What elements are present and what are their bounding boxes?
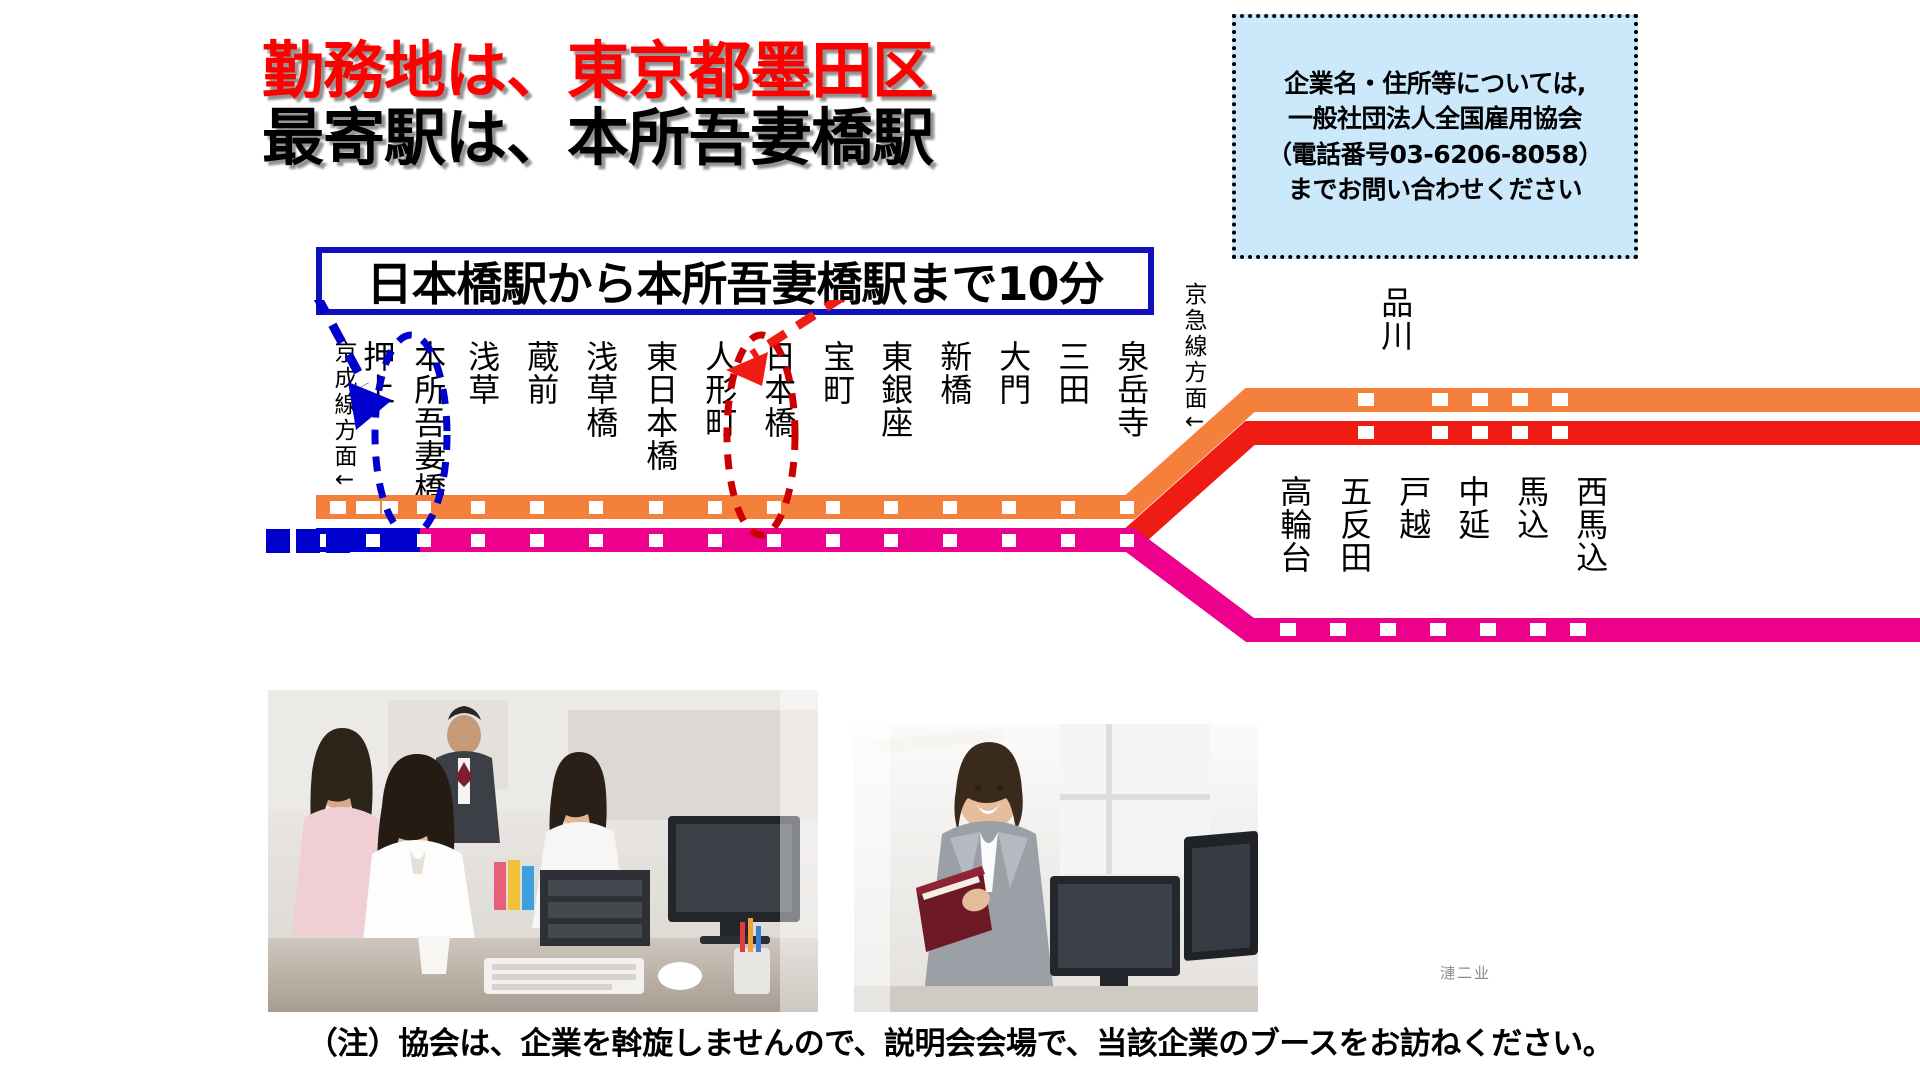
- station-tick: [417, 501, 431, 514]
- contact-info-line-3: （電話番号03-6206-8058）: [1267, 137, 1603, 173]
- station-tick: [1472, 426, 1488, 439]
- station-tick: [530, 534, 544, 547]
- station-tick: [943, 501, 957, 514]
- station-tick: [1430, 623, 1446, 636]
- station-tick: [1002, 501, 1016, 514]
- magenta-line: [316, 540, 1920, 630]
- station-tick: [330, 501, 346, 514]
- origin-pointer-arrow: [726, 300, 900, 386]
- office-woman-photo-graphic: [854, 724, 1258, 1012]
- station-tick: [1380, 623, 1396, 636]
- contact-info-line-4: までお問い合わせください: [1267, 172, 1603, 208]
- office-woman-photo: [854, 724, 1258, 1012]
- orange-line: [316, 400, 1920, 507]
- keisei-stub-block: [326, 529, 350, 553]
- station-tick: [530, 501, 544, 514]
- keisei-stub-block: [266, 529, 290, 553]
- station-tick: [471, 534, 485, 547]
- station-tick: [826, 534, 840, 547]
- watermark-text: 漣二业: [1440, 962, 1491, 983]
- keisei-stub-block: [296, 529, 320, 553]
- station-tick: [649, 501, 663, 514]
- station-tick: [356, 501, 372, 514]
- station-tick: [1512, 393, 1528, 406]
- contact-info-box: 企業名・住所等については, 一般社団法人全国雇用協会 （電話番号03-6206-…: [1232, 14, 1638, 259]
- station-tick: [1330, 623, 1346, 636]
- station-tick: [1552, 393, 1568, 406]
- station-tick: [884, 534, 898, 547]
- contact-info-line-1: 企業名・住所等については,: [1267, 66, 1603, 102]
- station-tick: [767, 534, 781, 547]
- contact-info-line-2: 一般社団法人全国雇用協会: [1267, 101, 1603, 137]
- page-title-line-1: 勤務地は、東京都墨田区: [262, 38, 1082, 105]
- station-tick: [943, 534, 957, 547]
- station-tick: [708, 534, 722, 547]
- page-title: 勤務地は、東京都墨田区 最寄駅は、本所吾妻橋駅: [262, 38, 1082, 172]
- rail-lines-svg: [0, 300, 1920, 720]
- page-title-line-2: 最寄駅は、本所吾妻橋駅: [262, 105, 1082, 172]
- station-tick: [1358, 426, 1374, 439]
- station-tick: [1552, 426, 1568, 439]
- station-tick: [1120, 501, 1134, 514]
- station-tick: [1280, 623, 1296, 636]
- station-tick: [649, 534, 663, 547]
- station-tick: [1472, 393, 1488, 406]
- station-tick: [1432, 393, 1448, 406]
- station-tick: [589, 501, 603, 514]
- station-tick: [767, 501, 781, 514]
- contact-info-text: 企業名・住所等については, 一般社団法人全国雇用協会 （電話番号03-6206-…: [1267, 66, 1603, 208]
- office-team-photo-graphic: [268, 690, 818, 1012]
- station-tick: [366, 534, 380, 547]
- station-tick: [1002, 534, 1016, 547]
- station-tick: [1061, 501, 1075, 514]
- station-tick: [1061, 534, 1075, 547]
- station-tick: [1530, 623, 1546, 636]
- station-tick: [1358, 393, 1374, 406]
- station-tick: [1432, 426, 1448, 439]
- station-tick: [826, 501, 840, 514]
- station-tick: [1480, 623, 1496, 636]
- footer-note: （注）協会は、企業を斡旋しませんので、説明会会場で、当該企業のブースをお訪ねくだ…: [0, 1018, 1920, 1063]
- railway-route-map: 京成線方面↓ 京急線方面↓ 押上本所吾妻橋浅草蔵前浅草橋東日本橋人形町日本橋宝町…: [0, 300, 1920, 720]
- red-line: [1130, 433, 1920, 540]
- office-team-photo: [268, 690, 818, 1012]
- station-tick: [708, 501, 722, 514]
- slide-canvas: 勤務地は、東京都墨田区 最寄駅は、本所吾妻橋駅 企業名・住所等については, 一般…: [0, 0, 1920, 1080]
- station-tick: [1512, 426, 1528, 439]
- station-tick: [471, 501, 485, 514]
- station-tick: [589, 534, 603, 547]
- station-tick: [1120, 534, 1134, 547]
- station-tick: [417, 534, 431, 547]
- station-tick: [884, 501, 898, 514]
- destination-pointer-arrow: [300, 300, 392, 430]
- station-tick: [1570, 623, 1586, 636]
